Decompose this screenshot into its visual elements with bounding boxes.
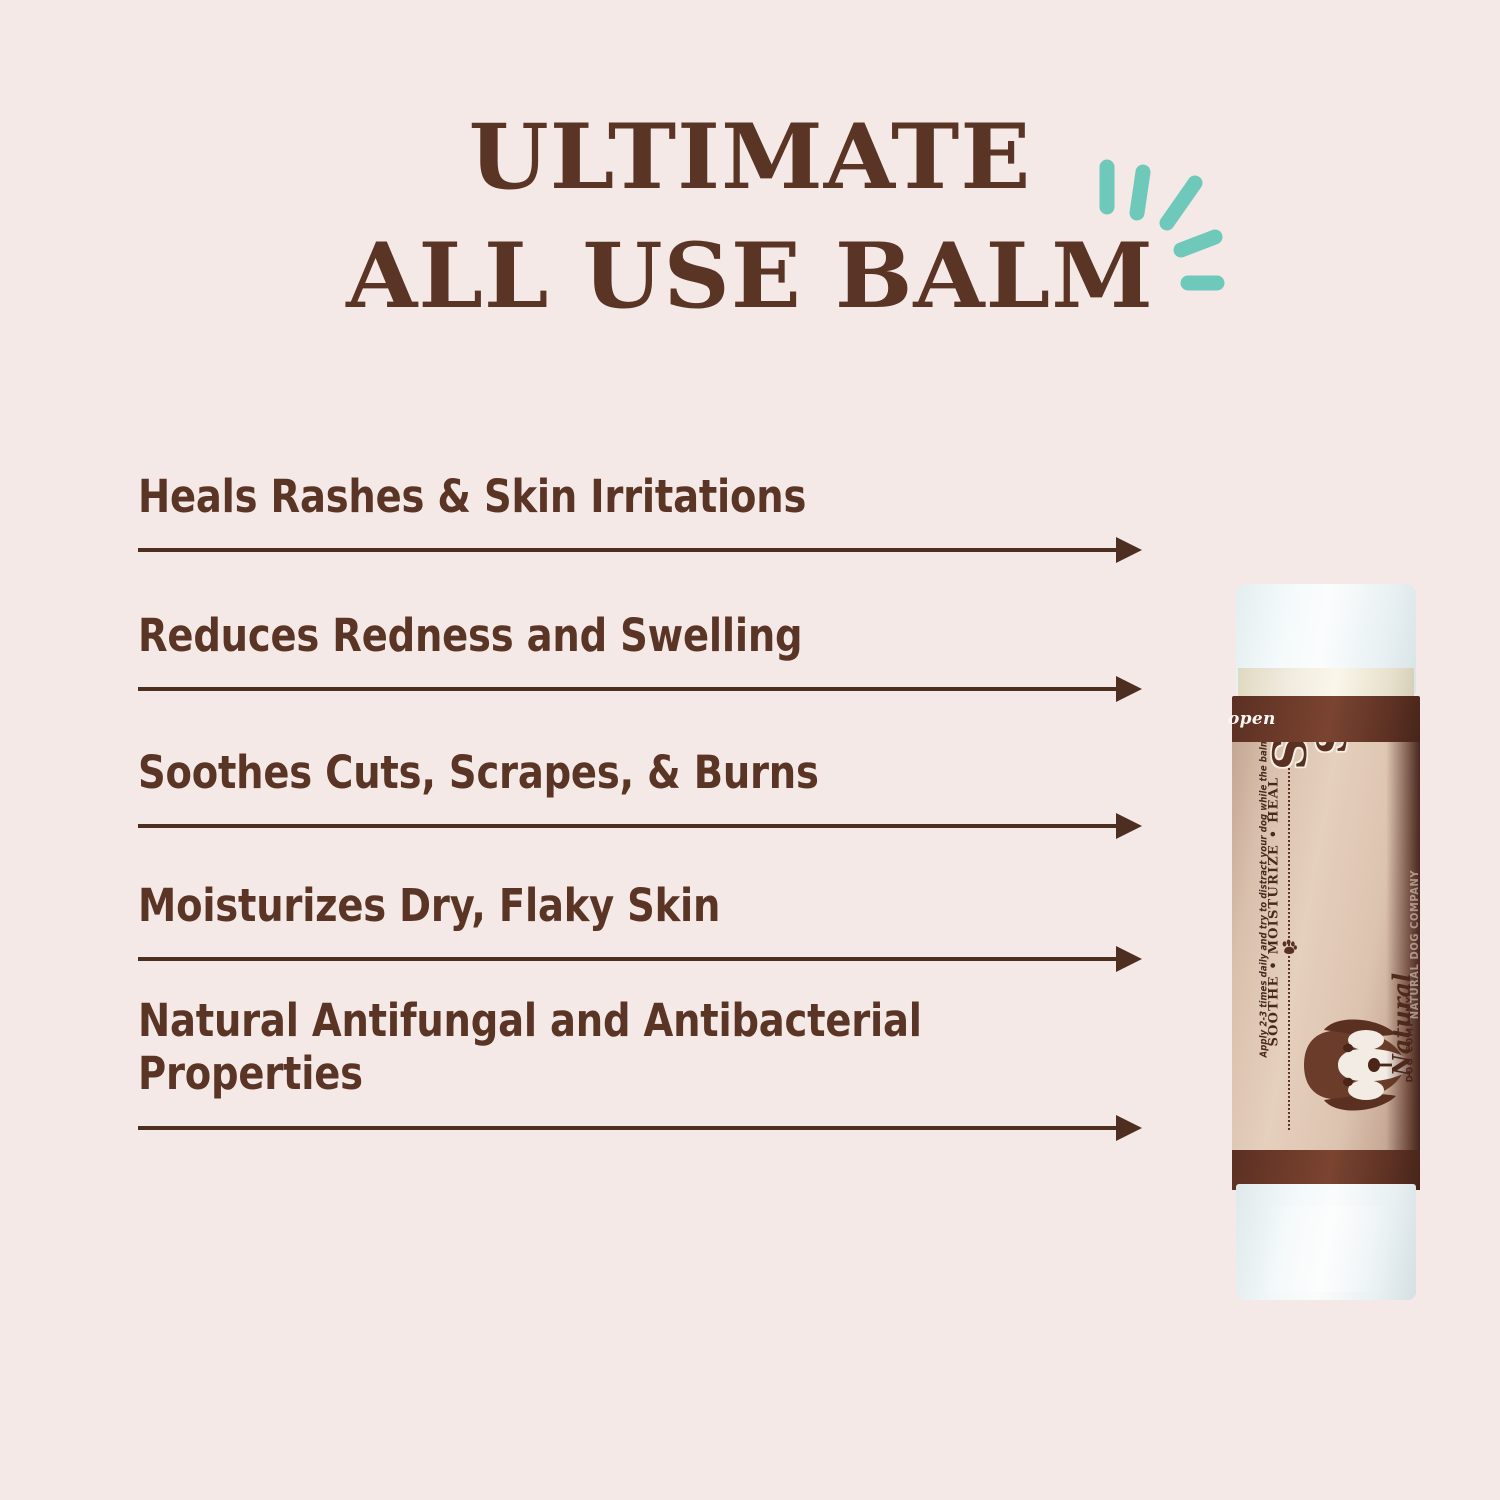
product-name-line-1: Skin <box>1268 742 1313 770</box>
benefit-row: Natural Antifungal and Antibacterial Pro… <box>138 994 1160 1140</box>
arrow-head <box>1116 1115 1142 1141</box>
benefit-label: Moisturizes Dry, Flaky Skin <box>138 879 1088 932</box>
arrow-shaft <box>138 548 1120 552</box>
arrow-shaft <box>138 687 1120 691</box>
arrow-shaft <box>138 824 1120 828</box>
label-edge-text: NATURAL DOG COMPANY <box>1408 870 1420 1019</box>
benefit-label: Soothes Cuts, Scrapes, & Burns <box>138 746 1088 799</box>
benefit-row: Reduces Redness and Swelling <box>138 609 1160 702</box>
product-claims: SOOTHE • MOISTURIZE • HEAL <box>1267 817 1282 1047</box>
benefit-row: Heals Rashes & Skin Irritations <box>138 470 1160 563</box>
arrow-right-icon <box>138 813 1160 839</box>
benefit-label: Natural Antifungal and Antibacterial Pro… <box>138 994 1088 1100</box>
arrow-right-icon <box>138 946 1160 972</box>
arrow-shaft <box>138 1126 1120 1130</box>
arrow-shaft <box>138 957 1120 961</box>
title-line-1: ULTIMATE <box>0 98 1500 217</box>
arrow-head <box>1116 813 1142 839</box>
paw-print-icon <box>1280 938 1298 956</box>
arrow-head <box>1116 537 1142 563</box>
title-line-2: ALL USE BALM <box>0 217 1500 336</box>
product-name: Skin Soother <box>1268 742 1398 770</box>
open-label: open <box>1228 709 1276 729</box>
product-image: open Apply 2-3 times daily and try to di… <box>1232 584 1420 1300</box>
product-label: Apply 2-3 times daily and try to distrac… <box>1232 742 1420 1156</box>
product-name-line-2: Soother <box>1313 742 1352 754</box>
tube-base <box>1236 1184 1416 1300</box>
arrow-head <box>1116 946 1142 972</box>
page-title: ULTIMATE ALL USE BALM <box>0 98 1500 336</box>
arrow-right-icon <box>138 676 1160 702</box>
arrow-right-icon <box>138 537 1160 563</box>
infographic-canvas: ULTIMATE ALL USE BALM Heals Rashes & Ski… <box>0 0 1500 1500</box>
tube-top-band: open <box>1232 696 1420 744</box>
benefit-list: Heals Rashes & Skin Irritations Reduces … <box>138 470 1160 1141</box>
arrow-head <box>1116 676 1142 702</box>
benefit-label: Reduces Redness and Swelling <box>138 609 1088 662</box>
tube-base-highlight <box>1264 1206 1388 1292</box>
benefit-row: Soothes Cuts, Scrapes, & Burns <box>138 746 1160 839</box>
arrow-right-icon <box>138 1115 1160 1141</box>
benefit-row: Moisturizes Dry, Flaky Skin <box>138 879 1160 972</box>
benefit-label: Heals Rashes & Skin Irritations <box>138 470 1088 523</box>
